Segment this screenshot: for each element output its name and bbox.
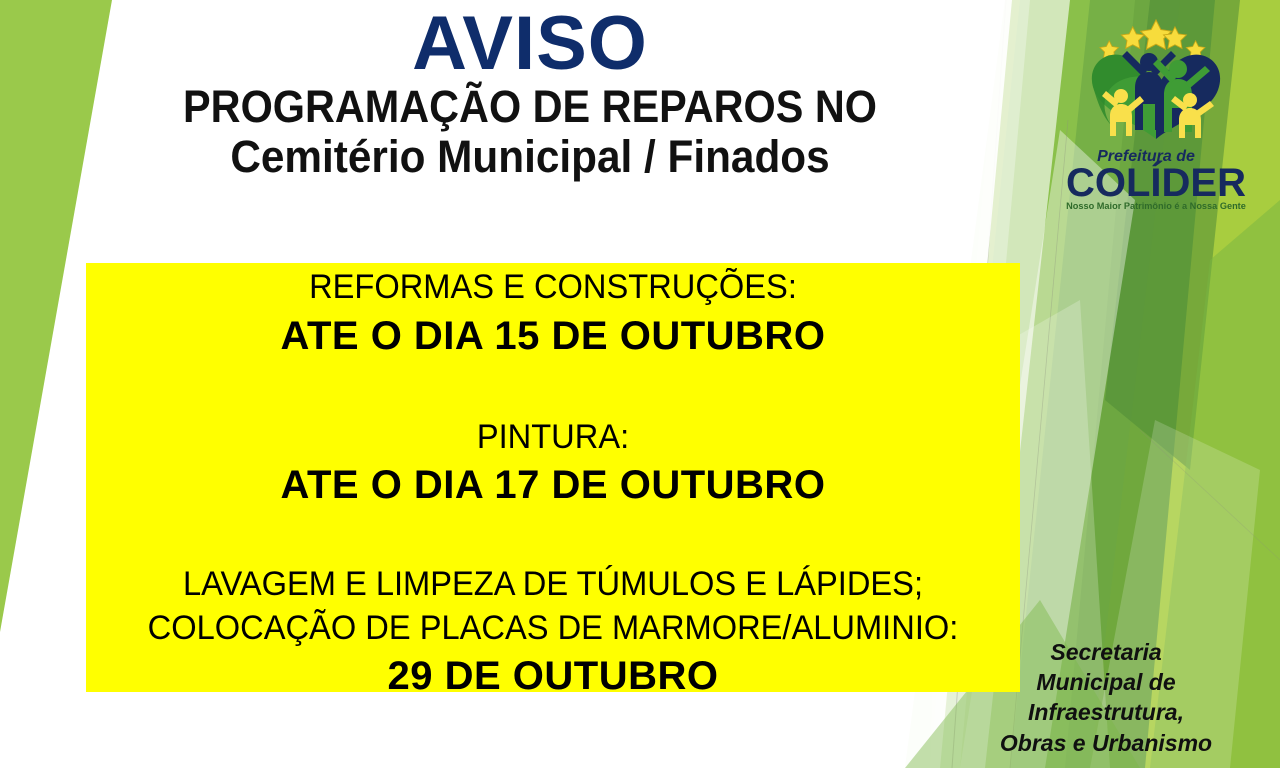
poster-canvas: AVISO PROGRAMAÇÃO DE REPAROS NO Cemitéri… xyxy=(0,0,1280,768)
notice-label-lavagem-line1: LAVAGEM E LIMPEZA DE TÚMULOS E LÁPIDES; xyxy=(114,563,991,607)
secretaria-line-4: Obras e Urbanismo xyxy=(956,728,1256,758)
notice-label-pintura: PINTURA: xyxy=(114,416,991,460)
secretaria-line-2: Municipal de xyxy=(956,667,1256,697)
logo-name: COLÍDER xyxy=(1066,160,1246,205)
heading-block: AVISO PROGRAMAÇÃO DE REPAROS NO Cemitéri… xyxy=(60,6,1000,184)
notice-spacer-1 xyxy=(96,362,1010,416)
notice-value-reformas: ATE O DIA 15 DE OUTUBRO xyxy=(96,310,1010,362)
notice-spacer-2 xyxy=(96,511,1010,563)
subtitle-line-1: PROGRAMAÇÃO DE REPAROS NO xyxy=(98,83,963,130)
hairline-c xyxy=(1140,430,1280,560)
subtitle-line-2: Cemitério Municipal / Finados xyxy=(88,130,972,184)
secretaria-block: Secretaria Municipal de Infraestrutura, … xyxy=(956,637,1256,758)
colider-logo: Prefeitura de COLÍDER Nosso Maior Patrim… xyxy=(1050,4,1262,216)
notice-label-reformas: REFORMAS E CONSTRUÇÕES: xyxy=(114,266,991,310)
notice-value-pintura: ATE O DIA 17 DE OUTUBRO xyxy=(96,459,1010,511)
notice-group-pintura: PINTURA: ATE O DIA 17 DE OUTUBRO xyxy=(96,416,1010,512)
notice-group-lavagem: LAVAGEM E LIMPEZA DE TÚMULOS E LÁPIDES; … xyxy=(96,563,1010,702)
secretaria-line-1: Secretaria xyxy=(956,637,1256,667)
notice-label-lavagem-line2: COLOCAÇÃO DE PLACAS DE MARMORE/ALUMINIO: xyxy=(114,607,991,651)
logo-tagline: Nosso Maior Patrimônio é a Nossa Gente xyxy=(1066,201,1246,211)
logo-stars-icon xyxy=(1100,20,1205,58)
notice-body: REFORMAS E CONSTRUÇÕES: ATE O DIA 15 DE … xyxy=(96,266,1010,702)
notice-group-reformas: REFORMAS E CONSTRUÇÕES: ATE O DIA 15 DE … xyxy=(96,266,1010,362)
secretaria-line-3: Infraestrutura, xyxy=(956,697,1256,727)
page-title: AVISO xyxy=(60,6,1000,81)
notice-value-lavagem: 29 DE OUTUBRO xyxy=(96,650,1010,702)
